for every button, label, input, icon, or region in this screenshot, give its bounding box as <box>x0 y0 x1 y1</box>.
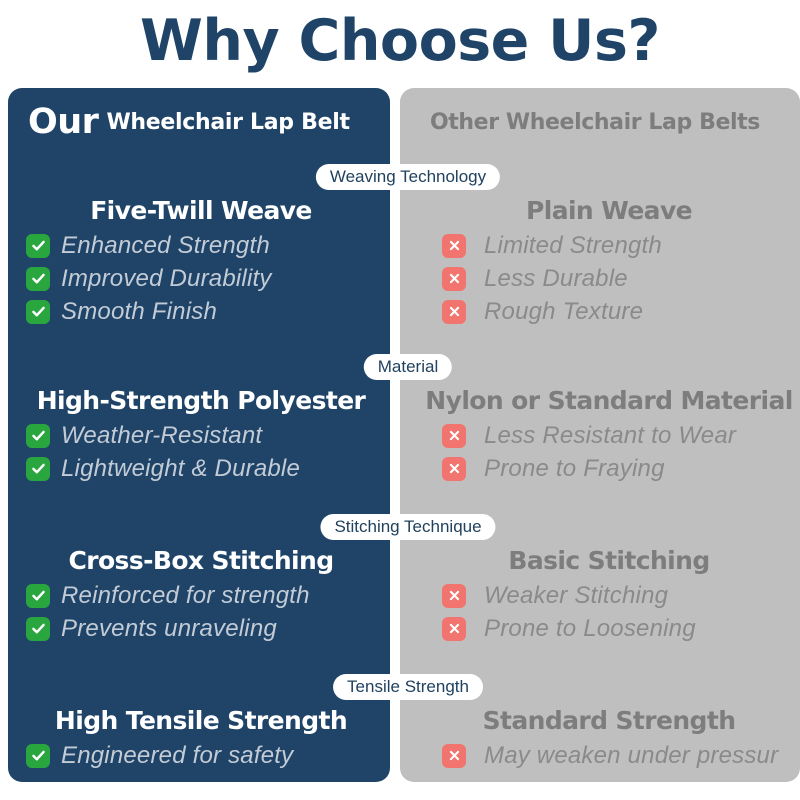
list-item-label: Prevents unraveling <box>61 615 277 643</box>
list-item-label: Prone to Fraying <box>484 455 665 483</box>
section-badge-stitching-technique: Stitching Technique <box>320 514 495 540</box>
others-section-heading: Standard Strength <box>424 706 794 735</box>
section-others-content: Nylon or Standard Material Less Resistan… <box>400 386 800 485</box>
list-item-label: Smooth Finish <box>61 298 217 326</box>
list-item: Engineered for safety <box>26 739 376 772</box>
others-header-label: Other Wheelchair Lap Belts <box>430 110 760 135</box>
list-item: Rough Texture <box>424 295 794 328</box>
cross-icon <box>442 234 466 258</box>
list-item: Improved Durability <box>26 262 376 295</box>
section-ours-content: High-Strength Polyester Weather-Resistan… <box>8 386 390 485</box>
others-bullet-list: May weaken under pressur <box>424 739 794 772</box>
list-item: Smooth Finish <box>26 295 376 328</box>
cross-icon <box>442 744 466 768</box>
cross-icon <box>442 267 466 291</box>
page-title: Why Choose Us? <box>0 4 800 78</box>
section-badge-material: Material <box>364 354 452 380</box>
list-item: Lightweight & Durable <box>26 452 376 485</box>
list-item-label: May weaken under pressur <box>484 742 778 770</box>
others-section-heading: Basic Stitching <box>424 546 794 575</box>
list-item: Less Durable <box>424 262 794 295</box>
list-item-label: Less Resistant to Wear <box>484 422 736 450</box>
others-bullet-list: Weaker Stitching Prone to Loosening <box>424 579 794 645</box>
check-icon <box>26 617 50 641</box>
section-others-content: Basic Stitching Weaker Stitching Prone t… <box>400 546 800 645</box>
list-item: Enhanced Strength <box>26 229 376 262</box>
list-item-label: Weaker Stitching <box>484 582 668 610</box>
check-icon <box>26 424 50 448</box>
others-section-heading: Nylon or Standard Material <box>424 386 794 415</box>
list-item-label: Less Durable <box>484 265 628 293</box>
cross-icon <box>442 457 466 481</box>
section-badge-tensile-strength: Tensile Strength <box>333 674 483 700</box>
list-item: Prevents unraveling <box>26 612 376 645</box>
list-item: Reinforced for strength <box>26 579 376 612</box>
cross-icon <box>442 617 466 641</box>
ours-bullet-list: Weather-Resistant Lightweight & Durable <box>26 419 376 485</box>
list-item-label: Rough Texture <box>484 298 643 326</box>
list-item: May weaken under pressur <box>424 739 794 772</box>
check-icon <box>26 267 50 291</box>
list-item: Prone to Loosening <box>424 612 794 645</box>
list-item-label: Improved Durability <box>61 265 272 293</box>
others-section-heading: Plain Weave <box>424 196 794 225</box>
section-ours-content: Cross-Box Stitching Reinforced for stren… <box>8 546 390 645</box>
others-column-header: Other Wheelchair Lap Belts <box>400 88 800 156</box>
list-item-label: Prone to Loosening <box>484 615 696 643</box>
list-item-label: Limited Strength <box>484 232 662 260</box>
ours-section-heading: High Tensile Strength <box>26 706 376 735</box>
ours-bullet-list: Engineered for safety <box>26 739 376 772</box>
list-item: Less Resistant to Wear <box>424 419 794 452</box>
ours-header-emphasis: Our <box>28 102 98 142</box>
list-item: Weather-Resistant <box>26 419 376 452</box>
check-icon <box>26 584 50 608</box>
others-bullet-list: Limited Strength Less Durable Rough Text… <box>424 229 794 328</box>
check-icon <box>26 300 50 324</box>
list-item-label: Lightweight & Durable <box>61 455 300 483</box>
list-item-label: Weather-Resistant <box>61 422 262 450</box>
ours-column-header: Our Wheelchair Lap Belt <box>8 88 390 156</box>
section-others-content: Standard Strength May weaken under press… <box>400 706 800 772</box>
check-icon <box>26 744 50 768</box>
ours-bullet-list: Enhanced Strength Improved Durability Sm… <box>26 229 376 328</box>
ours-section-heading: Five-Twill Weave <box>26 196 376 225</box>
cross-icon <box>442 424 466 448</box>
check-icon <box>26 234 50 258</box>
list-item: Prone to Fraying <box>424 452 794 485</box>
section-others-content: Plain Weave Limited Strength Less Durabl… <box>400 196 800 328</box>
comparison-board: Our Wheelchair Lap Belt Other Wheelchair… <box>8 88 800 788</box>
list-item-label: Engineered for safety <box>61 742 293 770</box>
ours-header-label: Wheelchair Lap Belt <box>106 110 349 135</box>
cross-icon <box>442 584 466 608</box>
check-icon <box>26 457 50 481</box>
list-item: Weaker Stitching <box>424 579 794 612</box>
others-bullet-list: Less Resistant to Wear Prone to Fraying <box>424 419 794 485</box>
cross-icon <box>442 300 466 324</box>
list-item-label: Enhanced Strength <box>61 232 270 260</box>
section-ours-content: Five-Twill Weave Enhanced Strength Impro… <box>8 196 390 328</box>
list-item-label: Reinforced for strength <box>61 582 310 610</box>
ours-section-heading: High-Strength Polyester <box>26 386 376 415</box>
ours-section-heading: Cross-Box Stitching <box>26 546 376 575</box>
section-ours-content: High Tensile Strength Engineered for saf… <box>8 706 390 772</box>
ours-bullet-list: Reinforced for strength Prevents unravel… <box>26 579 376 645</box>
list-item: Limited Strength <box>424 229 794 262</box>
section-badge-weaving-technology: Weaving Technology <box>316 164 500 190</box>
